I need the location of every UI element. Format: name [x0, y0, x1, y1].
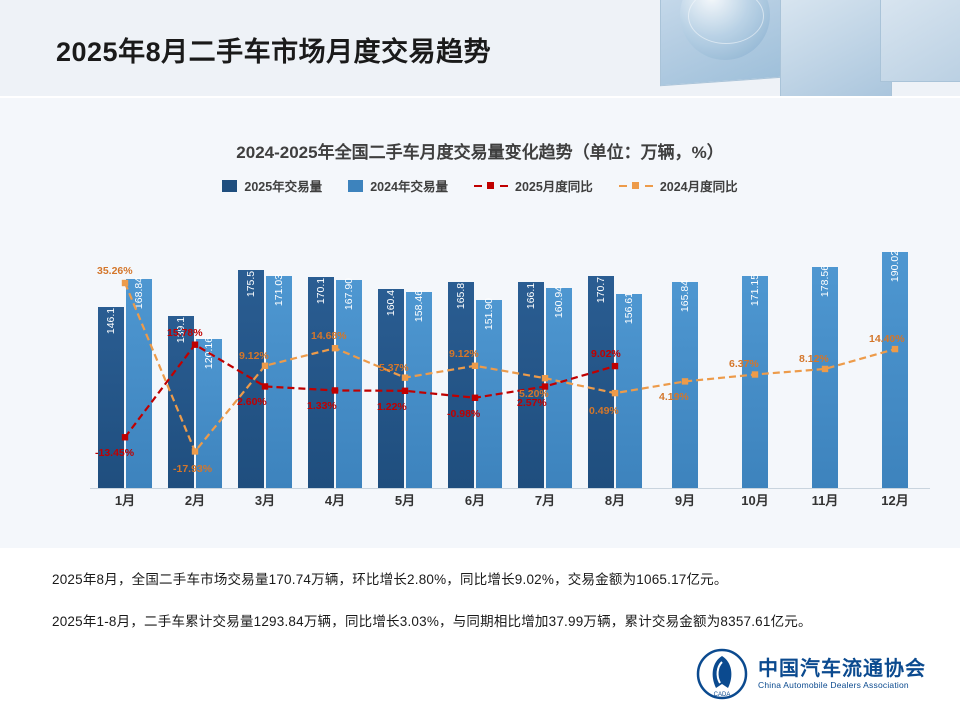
- x-axis-labels: 1月2月3月4月5月6月7月8月9月10月11月12月: [90, 490, 930, 514]
- trend-point-marker: [542, 375, 548, 381]
- trend-point-marker: [892, 346, 898, 352]
- legend-label: 2024月度同比: [660, 176, 738, 195]
- cube-icon: [880, 0, 960, 82]
- percent-data-label: 9.02%: [591, 348, 621, 360]
- legend-item-2024-yoy: 2024月度同比: [619, 176, 738, 195]
- slide-page: 2025年8月二手车市场月度交易趋势 2024-2025年全国二手车月度交易量变…: [0, 0, 960, 720]
- chart-legend: 2025年交易量 2024年交易量 2025月度同比: [0, 176, 960, 195]
- trend-point-marker: [752, 371, 758, 377]
- percent-data-label: 9.12%: [239, 350, 269, 362]
- x-axis-tick-label: 2月: [165, 490, 225, 509]
- page-title: 2025年8月二手车市场月度交易趋势: [56, 30, 491, 69]
- percent-data-label: 9.12%: [449, 348, 479, 360]
- legend-line-marker-icon: [474, 180, 508, 192]
- svg-text:CADA: CADA: [714, 692, 731, 698]
- legend-label: 2025月度同比: [515, 176, 593, 195]
- percent-data-label: 6.37%: [729, 358, 759, 370]
- x-axis-tick-label: 3月: [235, 490, 295, 509]
- trend-point-marker: [192, 341, 198, 347]
- slide-header: 2025年8月二手车市场月度交易趋势: [0, 0, 960, 98]
- legend-item-2025-yoy: 2025月度同比: [474, 176, 593, 195]
- percent-data-label: -13.45%: [95, 447, 134, 459]
- trend-point-marker: [262, 383, 268, 389]
- percent-data-label: 1.22%: [377, 401, 407, 413]
- x-axis-tick-label: 12月: [865, 490, 925, 509]
- x-axis-tick-label: 11月: [795, 490, 855, 509]
- percent-data-label: 15.78%: [167, 327, 203, 339]
- trend-point-marker: [402, 388, 408, 394]
- trend-point-marker: [122, 434, 128, 440]
- percent-data-label: -0.98%: [447, 408, 480, 420]
- x-axis-tick-label: 8月: [585, 490, 645, 509]
- legend-item-2024-volume: 2024年交易量: [348, 176, 448, 195]
- trend-point-marker: [332, 345, 338, 351]
- chart-title: 2024-2025年全国二手车月度交易量变化趋势（单位：万辆，%）: [0, 138, 960, 163]
- logo-name-en: China Automobile Dealers Association: [758, 680, 926, 690]
- cube-icon: [780, 0, 892, 98]
- percent-data-label: 35.26%: [97, 265, 133, 277]
- summary-note-cumulative: 2025年1-8月，二手车累计交易量1293.84万辆，同比增长3.03%，与同…: [52, 610, 812, 630]
- x-axis-tick-label: 5月: [375, 490, 435, 509]
- header-decoration: [580, 0, 960, 98]
- trend-point-marker: [332, 387, 338, 393]
- x-axis-tick-label: 7月: [515, 490, 575, 509]
- x-axis-tick-label: 10月: [725, 490, 785, 509]
- trend-point-marker: [612, 363, 618, 369]
- percent-data-label: 1.33%: [307, 400, 337, 412]
- trend-point-marker: [122, 280, 128, 286]
- trend-point-marker: [612, 390, 618, 396]
- trend-point-marker: [262, 363, 268, 369]
- legend-line-marker-icon: [619, 180, 653, 192]
- logo-name-cn: 中国汽车流通协会: [758, 659, 926, 680]
- trend-line: [125, 283, 895, 451]
- percent-data-label: 4.19%: [659, 391, 689, 403]
- summary-note-monthly: 2025年8月，全国二手车市场交易量170.74万辆，环比增长2.80%，同比增…: [52, 568, 728, 588]
- x-axis-line: [90, 488, 930, 489]
- percent-data-label: 14.40%: [869, 333, 905, 345]
- legend-item-2025-volume: 2025年交易量: [222, 176, 322, 195]
- cada-logo-icon: CADA: [696, 648, 748, 700]
- percent-data-label: 8.12%: [799, 353, 829, 365]
- percent-data-label: 2.60%: [237, 396, 267, 408]
- chart-container: 2024-2025年全国二手车月度交易量变化趋势（单位：万辆，%） 2025年交…: [0, 98, 960, 548]
- legend-swatch-icon: [222, 180, 237, 192]
- x-axis-tick-label: 1月: [95, 490, 155, 509]
- legend-swatch-icon: [348, 180, 363, 192]
- trend-point-marker: [472, 363, 478, 369]
- percent-data-label: 0.49%: [589, 405, 619, 417]
- trend-point-marker: [682, 378, 688, 384]
- x-axis-tick-label: 4月: [305, 490, 365, 509]
- legend-label: 2024年交易量: [370, 176, 448, 195]
- trend-point-marker: [472, 395, 478, 401]
- x-axis-tick-label: 6月: [445, 490, 505, 509]
- legend-label: 2025年交易量: [244, 176, 322, 195]
- trend-point-marker: [402, 374, 408, 380]
- percent-data-label: 14.68%: [311, 330, 347, 342]
- x-axis-tick-label: 9月: [655, 490, 715, 509]
- trend-point-marker: [192, 448, 198, 454]
- percent-data-label: 5.37%: [379, 362, 409, 374]
- percent-data-label: 2.57%: [517, 397, 547, 409]
- organization-logo: CADA 中国汽车流通协会 China Automobile Dealers A…: [696, 648, 926, 700]
- trend-point-marker: [822, 366, 828, 372]
- percent-data-label: -17.93%: [173, 463, 212, 475]
